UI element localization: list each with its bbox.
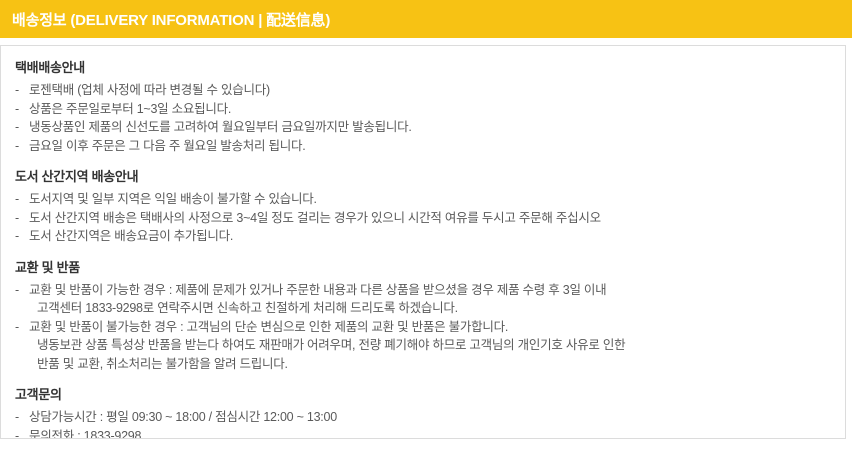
section-line-text: 냉동보관 상품 특성상 반품을 받는다 하여도 재판매가 어려우며, 전량 폐기… bbox=[37, 338, 625, 352]
section-line: -금요일 이후 주문은 그 다음 주 월요일 발송처리 됩니다. bbox=[15, 137, 845, 156]
delivery-information-page: 배송정보 (DELIVERY INFORMATION | 配送信息) 택배배송안… bbox=[0, 0, 860, 451]
dash-bullet-icon: - bbox=[15, 100, 19, 119]
section-line-text: 도서지역 및 일부 지역은 익일 배송이 불가할 수 있습니다. bbox=[29, 192, 317, 206]
page-header-bar: 배송정보 (DELIVERY INFORMATION | 配送信息) bbox=[0, 0, 852, 38]
section-line-text: 반품 및 교환, 취소처리는 불가함을 알려 드립니다. bbox=[37, 357, 288, 371]
info-section: 택배배송안내-로젠택배 (업체 사정에 따라 변경될 수 있습니다)-상품은 주… bbox=[15, 59, 845, 155]
section-line-text: 문의전화 : 1833-9298 bbox=[29, 429, 141, 440]
section-heading: 도서 산간지역 배송안내 bbox=[15, 168, 845, 186]
section-line: -도서 산간지역은 배송요금이 추가됩니다. bbox=[15, 227, 845, 246]
section-line: -문의전화 : 1833-9298 bbox=[15, 427, 845, 440]
section-line: -냉동상품인 제품의 신선도를 고려하여 월요일부터 금요일까지만 발송됩니다. bbox=[15, 118, 845, 137]
info-section: 고객문의-상담가능시간 : 평일 09:30 ~ 18:00 / 점심시간 12… bbox=[15, 386, 845, 439]
section-line-list: -도서지역 및 일부 지역은 익일 배송이 불가할 수 있습니다.-도서 산간지… bbox=[15, 190, 845, 246]
dash-bullet-icon: - bbox=[15, 281, 19, 300]
section-line-continuation: 냉동보관 상품 특성상 반품을 받는다 하여도 재판매가 어려우며, 전량 폐기… bbox=[15, 336, 845, 355]
dash-bullet-icon: - bbox=[15, 118, 19, 137]
delivery-information-content-box: 택배배송안내-로젠택배 (업체 사정에 따라 변경될 수 있습니다)-상품은 주… bbox=[0, 45, 846, 439]
section-line-text: 교환 및 반품이 가능한 경우 : 제품에 문제가 있거나 주문한 내용과 다른… bbox=[29, 283, 606, 297]
section-line: -도서 산간지역 배송은 택배사의 사정으로 3~4일 정도 걸리는 경우가 있… bbox=[15, 209, 845, 228]
dash-bullet-icon: - bbox=[15, 209, 19, 228]
section-line: -상품은 주문일로부터 1~3일 소요됩니다. bbox=[15, 100, 845, 119]
section-line-text: 로젠택배 (업체 사정에 따라 변경될 수 있습니다) bbox=[29, 83, 270, 97]
dash-bullet-icon: - bbox=[15, 81, 19, 100]
section-line-text: 상품은 주문일로부터 1~3일 소요됩니다. bbox=[29, 102, 231, 116]
section-line: -도서지역 및 일부 지역은 익일 배송이 불가할 수 있습니다. bbox=[15, 190, 845, 209]
section-line-text: 도서 산간지역 배송은 택배사의 사정으로 3~4일 정도 걸리는 경우가 있으… bbox=[29, 211, 601, 225]
section-line: -상담가능시간 : 평일 09:30 ~ 18:00 / 점심시간 12:00 … bbox=[15, 408, 845, 427]
page-title: 배송정보 (DELIVERY INFORMATION | 配送信息) bbox=[0, 9, 330, 30]
section-line-text: 냉동상품인 제품의 신선도를 고려하여 월요일부터 금요일까지만 발송됩니다. bbox=[29, 120, 412, 134]
section-line: -로젠택배 (업체 사정에 따라 변경될 수 있습니다) bbox=[15, 81, 845, 100]
dash-bullet-icon: - bbox=[15, 427, 19, 440]
dash-bullet-icon: - bbox=[15, 137, 19, 156]
info-section: 도서 산간지역 배송안내-도서지역 및 일부 지역은 익일 배송이 불가할 수 … bbox=[15, 168, 845, 246]
dash-bullet-icon: - bbox=[15, 190, 19, 209]
section-line-list: -로젠택배 (업체 사정에 따라 변경될 수 있습니다)-상품은 주문일로부터 … bbox=[15, 81, 845, 155]
section-line-text: 고객센터 1833-9298로 연락주시면 신속하고 친절하게 처리해 드리도록… bbox=[37, 301, 458, 315]
section-line-continuation: 반품 및 교환, 취소처리는 불가함을 알려 드립니다. bbox=[15, 355, 845, 374]
section-line-list: -교환 및 반품이 가능한 경우 : 제품에 문제가 있거나 주문한 내용과 다… bbox=[15, 281, 845, 374]
info-section: 교환 및 반품-교환 및 반품이 가능한 경우 : 제품에 문제가 있거나 주문… bbox=[15, 259, 845, 374]
dash-bullet-icon: - bbox=[15, 408, 19, 427]
dash-bullet-icon: - bbox=[15, 318, 19, 337]
section-line-text: 상담가능시간 : 평일 09:30 ~ 18:00 / 점심시간 12:00 ~… bbox=[29, 410, 337, 424]
section-line: -교환 및 반품이 불가능한 경우 : 고객님의 단순 변심으로 인한 제품의 … bbox=[15, 318, 845, 337]
section-heading: 교환 및 반품 bbox=[15, 259, 845, 277]
dash-bullet-icon: - bbox=[15, 227, 19, 246]
section-line-text: 교환 및 반품이 불가능한 경우 : 고객님의 단순 변심으로 인한 제품의 교… bbox=[29, 320, 508, 334]
sections-container: 택배배송안내-로젠택배 (업체 사정에 따라 변경될 수 있습니다)-상품은 주… bbox=[1, 46, 845, 439]
section-heading: 고객문의 bbox=[15, 386, 845, 404]
section-line-continuation: 고객센터 1833-9298로 연락주시면 신속하고 친절하게 처리해 드리도록… bbox=[15, 299, 845, 318]
section-heading: 택배배송안내 bbox=[15, 59, 845, 77]
section-line-text: 도서 산간지역은 배송요금이 추가됩니다. bbox=[29, 229, 233, 243]
section-line-text: 금요일 이후 주문은 그 다음 주 월요일 발송처리 됩니다. bbox=[29, 139, 306, 153]
section-line-list: -상담가능시간 : 평일 09:30 ~ 18:00 / 점심시간 12:00 … bbox=[15, 408, 845, 439]
section-line: -교환 및 반품이 가능한 경우 : 제품에 문제가 있거나 주문한 내용과 다… bbox=[15, 281, 845, 300]
